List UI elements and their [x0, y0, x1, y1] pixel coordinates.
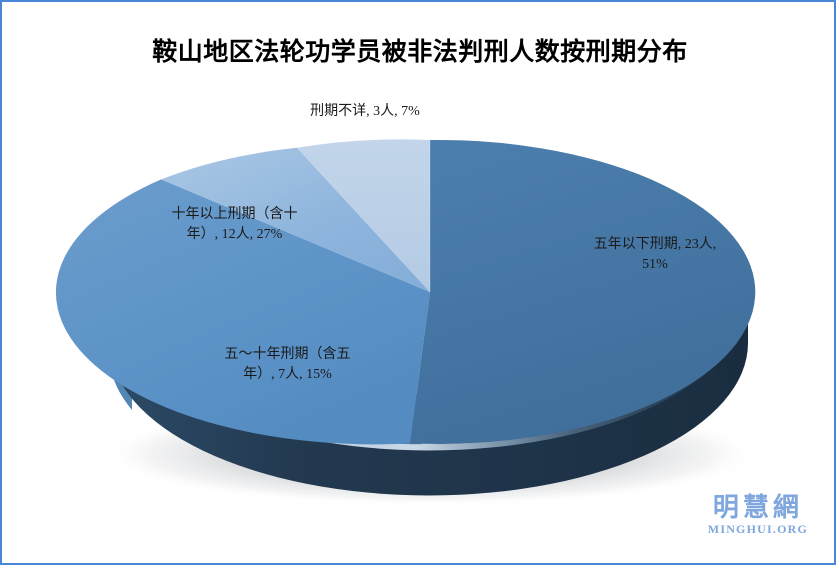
pie-chart-svg: 五年以下刑期, 23人, 51% 五～十年刑期（含五年）, 7人, 15% 十年…: [2, 2, 836, 565]
pie-chart: 五年以下刑期, 23人, 51% 五～十年刑期（含五年）, 7人, 15% 十年…: [2, 2, 836, 565]
watermark-english-text: MINGHUI.ORG: [708, 522, 808, 537]
chart-screenshot: 鞍山地区法轮功学员被非法判刑人数按刑期分布: [0, 0, 836, 565]
minghui-watermark: 明慧網 MINGHUI.ORG: [708, 494, 808, 537]
watermark-chinese-text: 明慧網: [708, 494, 808, 521]
